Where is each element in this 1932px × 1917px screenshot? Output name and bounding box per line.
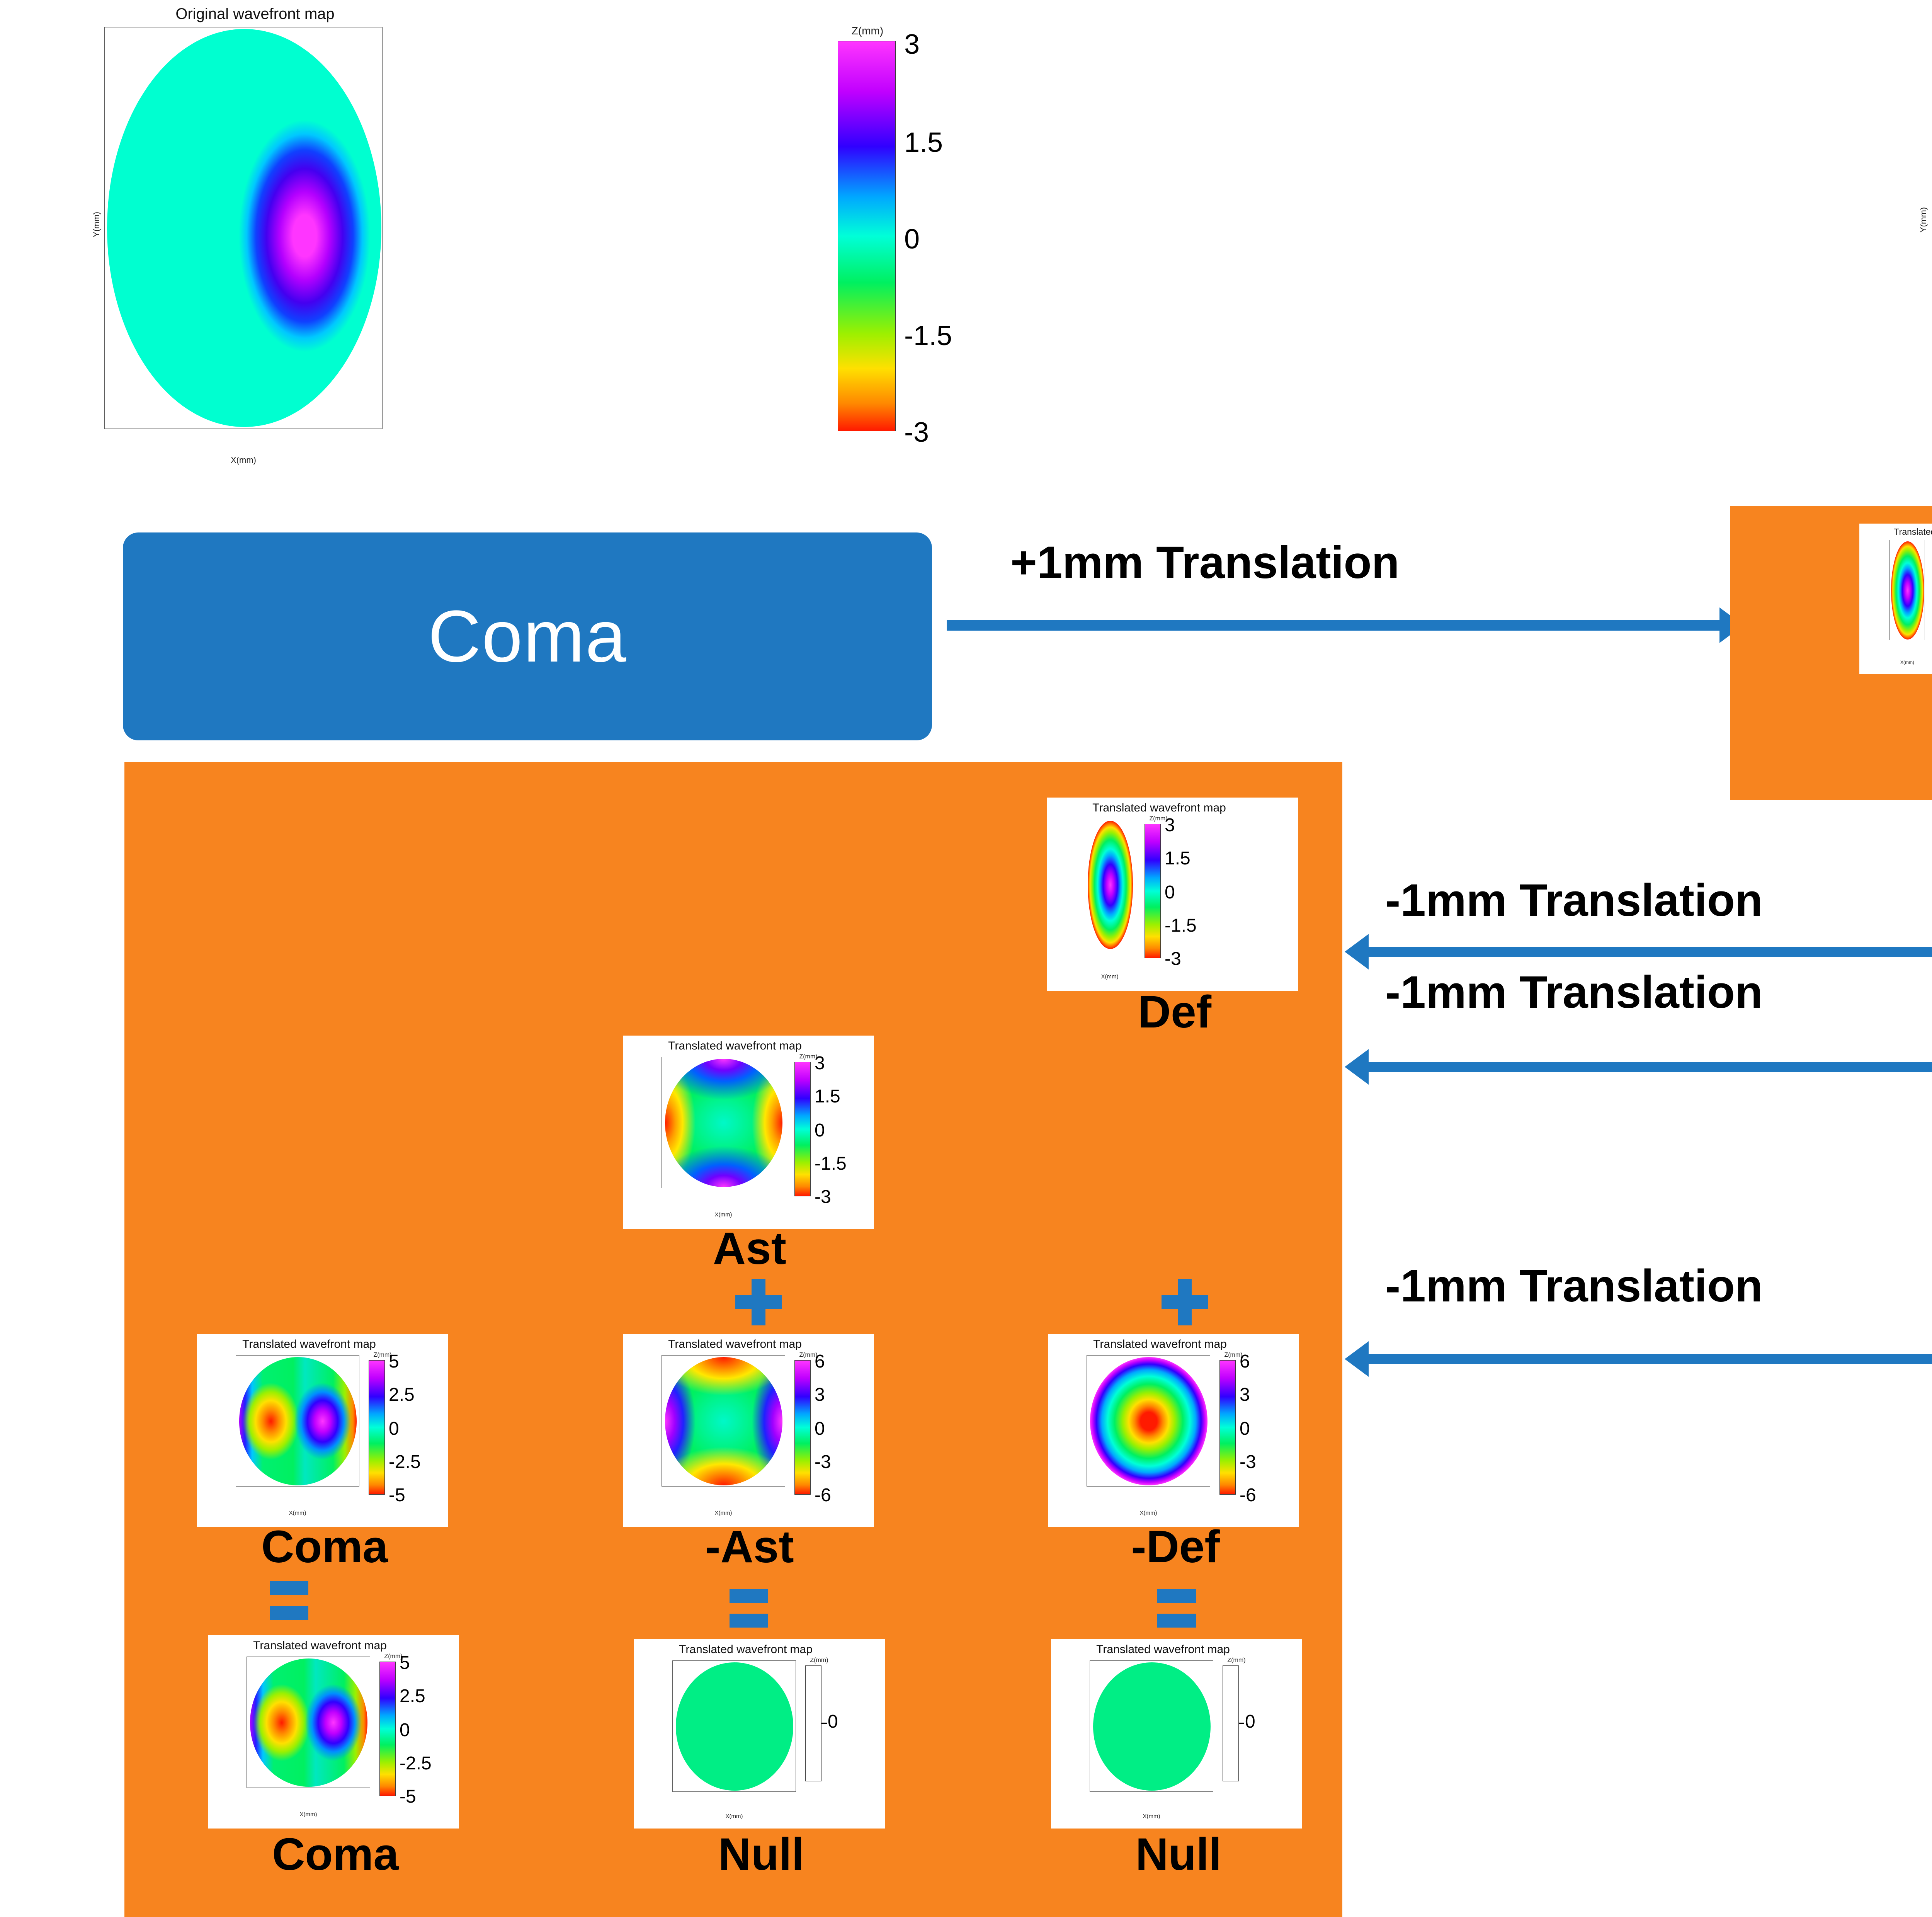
colorbar-tick: 1.5 — [815, 1086, 840, 1107]
colorbar-row-neg-ast: Z(mm) 6 3 0 -3 -6 — [793, 1349, 886, 1500]
colorbar-tick: 2.5 — [389, 1384, 415, 1405]
colorbar-row-ast: Z(mm) 3 1.5 0 -1.5 -3 — [793, 1051, 886, 1202]
caption-row-neg-ast: -Ast — [641, 1524, 858, 1570]
x-axis-label: X(mm) — [704, 1211, 743, 1218]
plot-title: Translated wavefront map — [1055, 801, 1264, 815]
plot-axes — [1086, 819, 1134, 950]
colorbar-tick: -2.5 — [389, 1451, 421, 1473]
x-axis-label: X(mm) — [289, 1811, 328, 1818]
equals-icon-2-top — [730, 1589, 768, 1603]
source-box-label: Coma — [428, 600, 627, 673]
colorbar-sum-coma: Z(mm) 5 2.5 0 -2.5 -5 — [378, 1651, 471, 1801]
plot-axes — [672, 1660, 796, 1792]
plot-axes — [662, 1355, 785, 1487]
wavefront-disc-null — [1093, 1662, 1211, 1791]
colorbar-gradient — [838, 41, 896, 431]
colorbar-tick: 1.5 — [904, 127, 943, 158]
plot-title: Translated wavefront map — [1913, 2, 1932, 19]
x-axis-label: X(mm) — [704, 1510, 743, 1516]
colorbar-tick: 0 — [400, 1720, 410, 1741]
caption-row-coma: Coma — [216, 1524, 433, 1570]
plot-axes — [662, 1057, 785, 1188]
colorbar-tick: 0 — [1165, 882, 1175, 903]
colorbar-tick: 3 — [1165, 815, 1175, 836]
colorbar-tick: -2.5 — [400, 1753, 432, 1774]
colorbar-gradient — [379, 1662, 396, 1796]
x-axis-label: X(mm) — [1129, 1510, 1168, 1516]
wavefront-disc-coma — [107, 29, 381, 427]
plot-title: Translated wavefront map — [216, 1639, 424, 1652]
colorbar-empty — [805, 1665, 821, 1781]
colorbar-tick: -1.5 — [1165, 915, 1197, 936]
reverse-arrow-1-head-icon — [1345, 934, 1369, 970]
colorbar-tick: 0 — [389, 1418, 399, 1439]
colorbar-tick: 5 — [400, 1652, 410, 1674]
plot-title: Translated wavefront map — [641, 1643, 850, 1656]
colorbar-tick: -6 — [815, 1485, 831, 1506]
colorbar-empty — [1223, 1665, 1239, 1781]
colorbar-title: Z(mm) — [1221, 1657, 1252, 1664]
colorbar-title: Z(mm) — [804, 1657, 835, 1664]
plot-card-sum-null-2: Translated wavefront map X(mm) Z(mm) 0 — [1051, 1639, 1302, 1829]
x-axis-label: X(mm) — [1132, 1813, 1171, 1820]
colorbar-tick: 3 — [815, 1053, 825, 1074]
wavefront-disc-coma — [239, 1357, 357, 1485]
source-box-coma[interactable]: Coma — [123, 532, 932, 740]
wavefront-disc-sum-coma — [250, 1658, 367, 1787]
colorbar-tick: -1.5 — [815, 1153, 847, 1174]
x-axis-label: X(mm) — [715, 1813, 753, 1820]
plot-card-row-coma: Translated wavefront map X(mm) Z(mm) 5 2… — [197, 1334, 448, 1527]
colorbar-tick: 6 — [1240, 1351, 1250, 1372]
plot-axes — [247, 1657, 370, 1788]
colorbar-tick: 2.5 — [400, 1686, 425, 1707]
colorbar-tick: -3 — [815, 1451, 831, 1473]
plot-card-row-def: Translated wavefront map X(mm) Z(mm) 3 1… — [1047, 798, 1298, 991]
plot-title: Translated wavefront map — [631, 1338, 839, 1351]
colorbar-tick: -3 — [1165, 948, 1181, 970]
colorbar-tick: -3 — [904, 417, 929, 448]
colorbar-gradient — [1219, 1360, 1236, 1495]
colorbar-tick: 3 — [904, 29, 920, 60]
x-axis-label: X(mm) — [1090, 973, 1129, 980]
colorbar-gradient — [1145, 824, 1161, 958]
wavefront-disc-neg-def — [1090, 1357, 1207, 1485]
colorbar-row-neg-def: Z(mm) 6 3 0 -3 -6 — [1218, 1349, 1311, 1500]
equals-icon-3-bottom — [1157, 1614, 1196, 1628]
colorbar-tick: 0 — [904, 223, 920, 255]
reverse-arrow-3-head-icon — [1345, 1341, 1369, 1377]
wavefront-disc-def — [1088, 821, 1133, 949]
plot-card-sum-coma: Translated wavefront map X(mm) Z(mm) 5 2… — [208, 1635, 459, 1829]
plot-axes — [1889, 540, 1925, 640]
plot-title: Translated wavefront map — [1056, 1338, 1264, 1351]
colorbar-tick: -1.5 — [904, 320, 952, 352]
equals-icon-3-top — [1157, 1589, 1196, 1603]
reverse-translation-label-1: -1mm Translation — [1385, 874, 1763, 927]
plot-card-row-ast: Translated wavefront map X(mm) Z(mm) 3 1… — [623, 1036, 874, 1229]
caption-sum-coma: Coma — [227, 1832, 444, 1877]
reverse-arrow-2-horizontal — [1369, 1062, 1932, 1072]
plot-axes — [104, 27, 383, 429]
forward-translation-label: +1mm Translation — [1010, 536, 1400, 589]
colorbar-tick: -5 — [400, 1786, 416, 1807]
plot-title: Translated wavefront map — [1864, 527, 1932, 537]
reverse-translation-label-2: -1mm Translation — [1385, 966, 1763, 1019]
x-axis-label: X(mm) — [1892, 660, 1923, 665]
wavefront-disc-null — [676, 1662, 793, 1791]
colorbar-tick: 0 — [1240, 1418, 1250, 1439]
x-axis-label: X(mm) — [278, 1510, 317, 1516]
colorbar-tick: 3 — [1240, 1384, 1250, 1405]
plot-card-original-coma: Original wavefront map Y(mm) X(mm) Z(mm)… — [50, 3, 1047, 505]
reverse-arrow-3-horizontal — [1369, 1354, 1932, 1364]
y-axis-label: Y(mm) — [1918, 189, 1929, 251]
colorbar-tick: 0 — [1245, 1711, 1255, 1732]
reverse-translation-label-3: -1mm Translation — [1385, 1260, 1763, 1312]
colorbar-row-def: Z(mm) 3 1.5 0 -1.5 -3 — [1143, 813, 1243, 964]
colorbar-tick-dash — [1239, 1723, 1244, 1724]
plot-axes — [1090, 1660, 1213, 1792]
caption-row-def: Def — [1066, 989, 1283, 1035]
plot-title: Original wavefront map — [97, 5, 413, 23]
forward-arrow-shaft — [947, 620, 1719, 631]
caption-sum-null-1: Null — [653, 1832, 869, 1877]
colorbar-sum-null-2: Z(mm) 0 — [1221, 1655, 1314, 1805]
plot-title: Translated wavefront map — [205, 1338, 413, 1351]
equals-icon-1-bottom — [270, 1606, 308, 1620]
colorbar-gradient — [369, 1360, 385, 1495]
colorbar-tick: 0 — [815, 1120, 825, 1141]
plot-title: Translated wavefront map — [1059, 1643, 1267, 1656]
plot-card-sum-null-1: Translated wavefront map X(mm) Z(mm) 0 — [634, 1639, 885, 1829]
plus-icon-1-bar — [735, 1295, 782, 1309]
caption-row-ast: Ast — [641, 1226, 858, 1271]
wavefront-disc-def — [1891, 541, 1924, 640]
colorbar-row-coma: Z(mm) 5 2.5 0 -2.5 -5 — [367, 1349, 460, 1500]
colorbar-tick: 5 — [389, 1351, 399, 1372]
wavefront-disc-neg-ast — [665, 1357, 782, 1485]
colorbar-gradient — [794, 1360, 811, 1495]
plot-card-panel-def: Translated wavefront map X(mm) Z(mm) 3 1… — [1859, 524, 1932, 674]
colorbar-sum-null-1: Z(mm) 0 — [804, 1655, 896, 1805]
plot-card-translated-total: Translated wavefront map Y(mm) X(mm) Z(m… — [1878, 0, 1932, 498]
colorbar-gradient — [794, 1062, 811, 1196]
y-axis-label: Y(mm) — [92, 194, 102, 255]
colorbar-tick: 0 — [815, 1418, 825, 1439]
colorbar-tick: -3 — [815, 1186, 831, 1208]
caption-sum-null-2: Null — [1070, 1832, 1287, 1877]
plot-card-row-neg-def: Translated wavefront map X(mm) Z(mm) 6 3… — [1048, 1334, 1299, 1527]
colorbar-tick: 6 — [815, 1351, 825, 1372]
plus-icon-2-bar — [1162, 1295, 1208, 1309]
reverse-arrow-1-horizontal — [1369, 947, 1932, 957]
caption-row-neg-def: -Def — [1067, 1524, 1284, 1570]
x-axis-label: X(mm) — [205, 455, 282, 465]
colorbar-tick: 0 — [828, 1711, 838, 1732]
plot-title: Translated wavefront map — [631, 1039, 839, 1053]
colorbar-tick: -6 — [1240, 1485, 1256, 1506]
plot-axes — [236, 1355, 359, 1487]
reverse-arrow-2-head-icon — [1345, 1049, 1369, 1085]
caption-panel-def: Def — [1893, 711, 1932, 760]
plot-card-row-neg-ast: Translated wavefront map X(mm) Z(mm) 6 3… — [623, 1334, 874, 1527]
colorbar-tick-dash — [821, 1723, 827, 1724]
colorbar-original-coma: Z(mm) 3 1.5 0 -1.5 -3 — [831, 15, 993, 447]
colorbar-tick: -3 — [1240, 1451, 1256, 1473]
wavefront-disc-ast — [665, 1059, 782, 1187]
colorbar-tick: 1.5 — [1165, 848, 1190, 869]
plot-axes — [1087, 1355, 1210, 1487]
colorbar-tick: 3 — [815, 1384, 825, 1405]
colorbar-tick: -5 — [389, 1485, 405, 1506]
equals-icon-1-top — [270, 1581, 308, 1595]
colorbar-title: Z(mm) — [835, 25, 900, 37]
equals-icon-2-bottom — [730, 1614, 768, 1628]
